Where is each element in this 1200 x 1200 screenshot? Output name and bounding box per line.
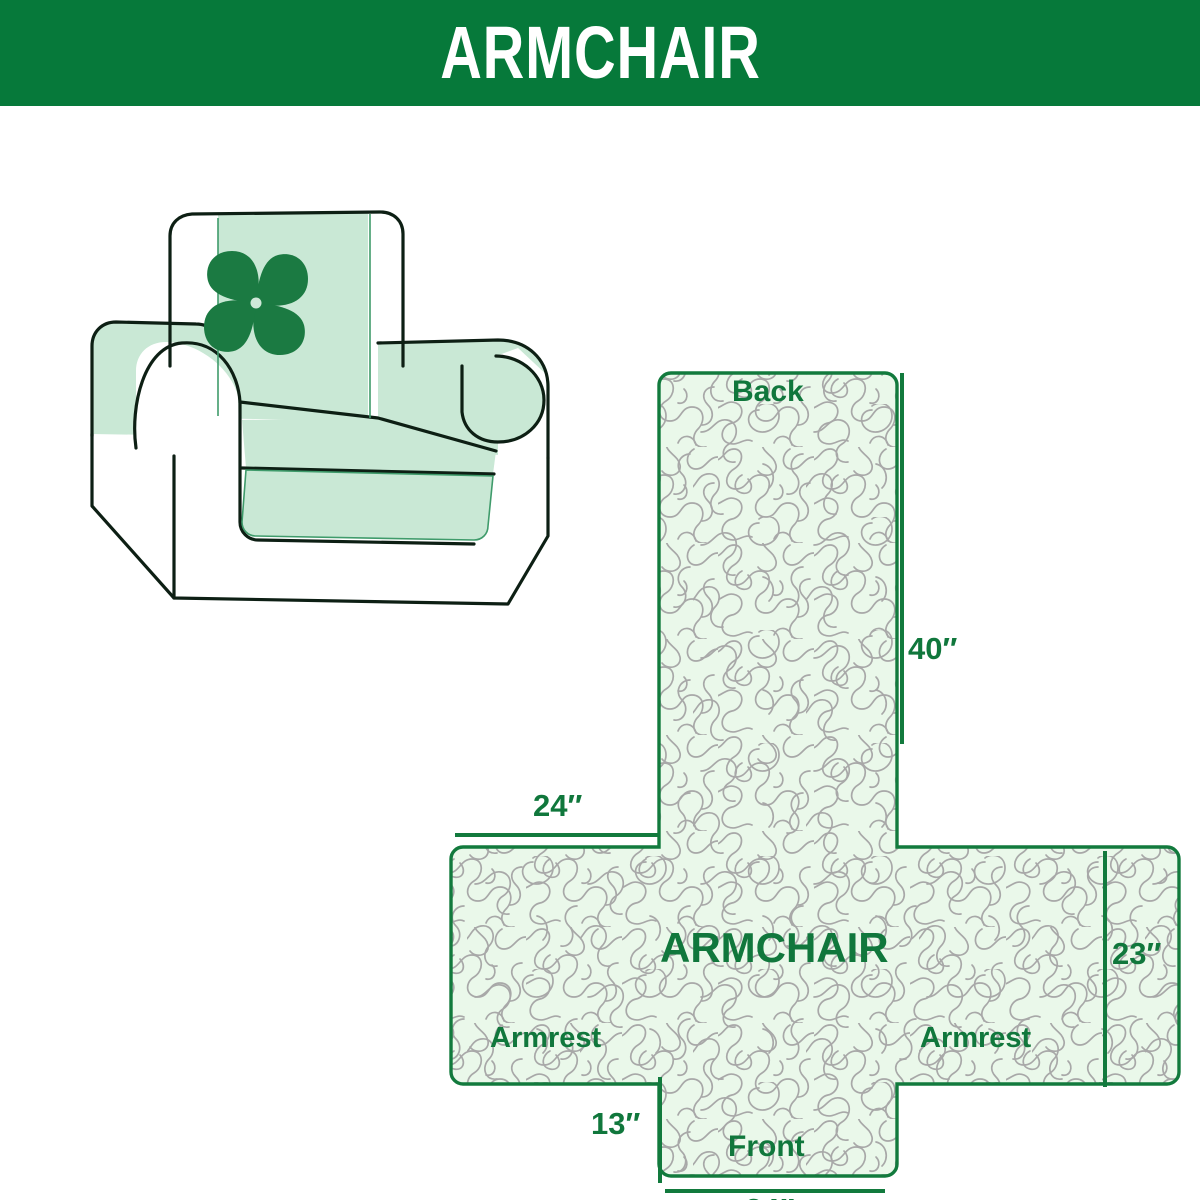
cross-shape-texture-overlay [430,351,1200,1200]
product-dimension-infographic: ARMCHAIR [0,0,1200,1200]
dimension-line-back-width [455,833,658,837]
dimension-label-back-width: 24″ [533,788,582,824]
slipcover-pattern-diagram: Back ARMCHAIR Armrest Armrest Front 40″ … [430,351,1200,1200]
dimension-label-front-width: 24″ [745,1192,794,1200]
cross-pattern-shape [430,351,1200,1200]
diagram-canvas: Back ARMCHAIR Armrest Armrest Front 40″ … [0,106,1200,1200]
dimension-label-back-length: 40″ [908,631,957,667]
dimension-line-front-length [658,1077,662,1183]
dimension-line-back-length [900,373,904,744]
header-banner: ARMCHAIR [0,0,1200,106]
dimension-line-body-height [1103,851,1107,1087]
dimension-label-front-length: 13″ [591,1106,640,1142]
page-title: ARMCHAIR [440,16,760,90]
dimension-label-body-height: 23″ [1112,936,1161,972]
